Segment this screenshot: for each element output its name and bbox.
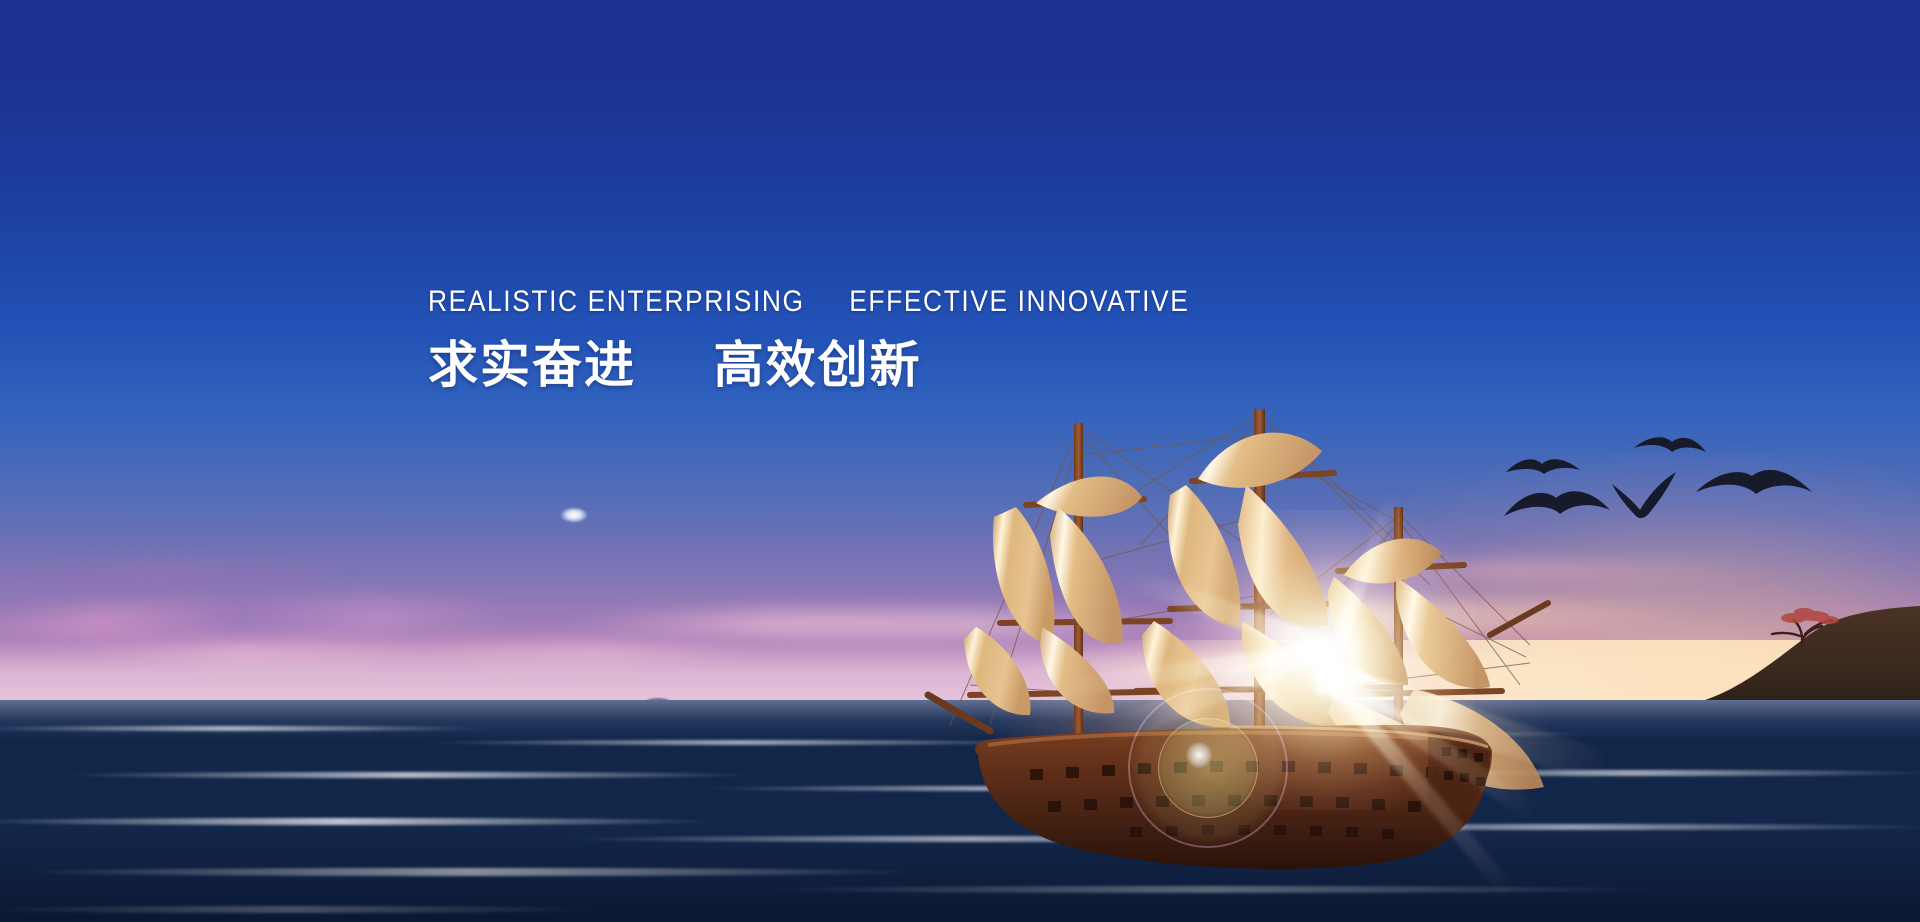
wave-foam bbox=[0, 818, 720, 825]
banner-copy: REALISTIC ENTERPRISING EFFECTIVE INNOVAT… bbox=[428, 286, 1288, 392]
banner-headline: 求实奋进 高效创新 bbox=[428, 338, 1288, 392]
ocean-far-haze bbox=[0, 700, 1920, 740]
wave-foam bbox=[420, 740, 1060, 745]
wave-foam bbox=[700, 786, 1260, 791]
banner-image: REALISTIC ENTERPRISING EFFECTIVE INNOVAT… bbox=[0, 0, 1920, 922]
wave-foam bbox=[1320, 770, 1920, 776]
banner-tagline: REALISTIC ENTERPRISING EFFECTIVE INNOVAT… bbox=[428, 286, 1185, 318]
ocean-shadow bbox=[0, 832, 1920, 922]
ocean-water bbox=[0, 700, 1920, 922]
wave-foam bbox=[60, 772, 760, 778]
wave-foam bbox=[1200, 824, 1920, 830]
